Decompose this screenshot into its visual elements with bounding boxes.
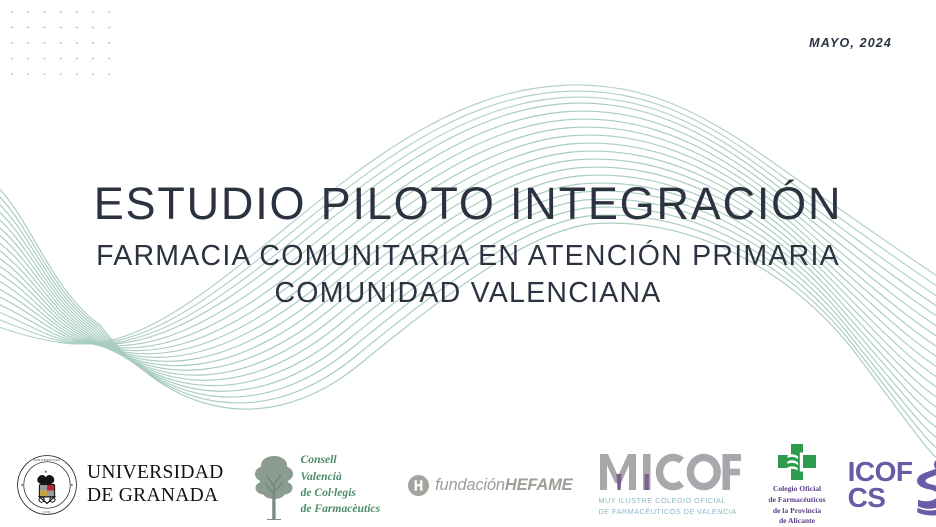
- consell-line-1: Consell: [301, 452, 381, 468]
- logo-colegio-alicante: Colegio Oficial de Farmacéuticos de la P…: [768, 443, 825, 527]
- title-line-3: COMUNIDAD VALENCIANA: [0, 275, 936, 312]
- title-line-2: FARMACIA COMUNITARIA EN ATENCIÓN PRIMARI…: [0, 238, 936, 275]
- hefame-text-bold: HEFAME: [505, 476, 573, 494]
- alicante-line-2: de Farmacéuticos: [768, 495, 825, 506]
- page-title: ESTUDIO PILOTO INTEGRACIÓN FARMACIA COMU…: [0, 180, 936, 312]
- micof-subtitle: MUY ILUSTRE COLEGIO OFICIAL DE FARMACÉUT…: [598, 496, 736, 517]
- icof-acronym-line-2: CS: [848, 485, 913, 511]
- consell-line-3: de Col·legis: [301, 485, 381, 501]
- alicante-wordmark: Colegio Oficial de Farmacéuticos de la P…: [768, 484, 825, 527]
- svg-text:UNIVERSITAS: UNIVERSITAS: [33, 458, 60, 462]
- ugr-seal-icon: UNIVERSITAS · 1531 ·: [16, 454, 78, 516]
- logo-fundacion-hefame: fundaciónHEFAME: [408, 475, 572, 496]
- hefame-wordmark: fundaciónHEFAME: [435, 476, 572, 495]
- hefame-text-light: fundación: [435, 476, 505, 494]
- logo-icof-cs-castello: ICOF CS Il·lustre Col·legi Oficial de Fa…: [848, 454, 936, 517]
- alicante-line-3: de la Provincia: [768, 506, 825, 517]
- logo-universidad-de-granada: UNIVERSITAS · 1531 ·: [16, 454, 224, 516]
- ugr-line-1: UNIVERSIDAD: [87, 462, 224, 485]
- logo-strip: UNIVERSITAS · 1531 ·: [0, 443, 936, 527]
- title-line-1: ESTUDIO PILOTO INTEGRACIÓN: [0, 180, 936, 229]
- tree-icon: [254, 450, 296, 520]
- micof-sub-line-1: MUY ILUSTRE COLEGIO OFICIAL: [598, 496, 736, 507]
- icof-acronym: ICOF CS: [848, 459, 913, 511]
- logo-micof: MUY ILUSTRE COLEGIO OFICIAL DE FARMACÉUT…: [598, 452, 742, 517]
- slide-date: MAYO, 2024: [809, 36, 892, 50]
- micof-mortar-icon: [598, 452, 742, 492]
- svg-text:· 1531 ·: · 1531 ·: [40, 510, 54, 514]
- green-cross-a-icon: [777, 443, 817, 481]
- dot-grid-pattern: [0, 0, 118, 80]
- alicante-line-4: de Alicante: [768, 516, 825, 527]
- ugr-line-2: DE GRANADA: [87, 485, 224, 508]
- serpent-icon: [911, 454, 936, 516]
- hefame-h-circle-icon: [408, 475, 429, 496]
- alicante-line-1: Colegio Oficial: [768, 484, 825, 495]
- micof-wordmark: [598, 452, 742, 492]
- micof-sub-line-2: DE FARMACÉUTICOS DE VALENCIA: [598, 507, 736, 518]
- consell-wordmark: Consell Valencià de Col·legis de Farmacè…: [301, 452, 381, 518]
- title-slide: MAYO, 2024 ESTUDIO PILOTO INTEGRACIÓN FA…: [0, 0, 936, 527]
- ugr-wordmark: UNIVERSIDAD DE GRANADA: [87, 462, 224, 507]
- logo-consell-valencia: Consell Valencià de Col·legis de Farmacè…: [254, 450, 381, 520]
- consell-line-2: Valencià: [301, 469, 381, 485]
- consell-line-4: de Farmacèutics: [301, 501, 381, 517]
